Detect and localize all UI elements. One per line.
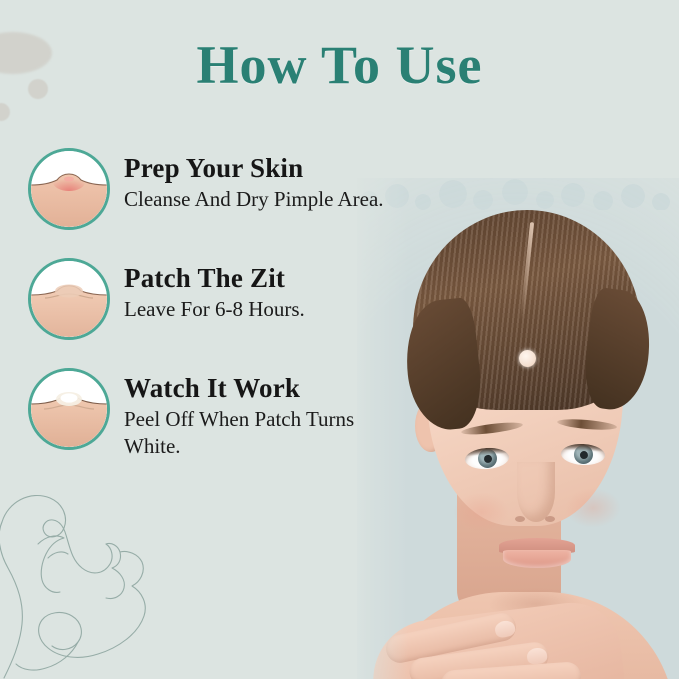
model-nostril-left [515, 516, 525, 522]
model-pupil-left [484, 455, 493, 464]
model-nostril-right [545, 516, 555, 522]
page-title: How To Use [0, 34, 679, 96]
step-title: Patch The Zit [124, 264, 305, 293]
step-item: Prep Your Skin Cleanse And Dry Pimple Ar… [28, 148, 448, 230]
line-art-face-profile [0, 488, 199, 679]
pimple-patch-applied-icon [28, 258, 110, 340]
step-item: Watch It Work Peel Off When Patch Turns … [28, 368, 448, 460]
pimple-bare-skin-icon [28, 148, 110, 230]
forehead-pimple-patch [519, 350, 536, 367]
steps-list: Prep Your Skin Cleanse And Dry Pimple Ar… [28, 148, 448, 488]
model-cheek-left [453, 492, 509, 532]
model-pupil-right [580, 451, 588, 459]
decorative-blob-small [0, 103, 10, 121]
infographic-canvas: How To Use [0, 0, 679, 679]
step-text: Watch It Work Peel Off When Patch Turns … [124, 368, 399, 460]
step-title: Prep Your Skin [124, 154, 384, 183]
step-description: Cleanse And Dry Pimple Area. [124, 186, 384, 213]
model-cheek-right [565, 488, 621, 528]
step-description: Peel Off When Patch Turns White. [124, 406, 399, 460]
step-title: Watch It Work [124, 374, 399, 403]
step-description: Leave For 6-8 Hours. [124, 296, 305, 323]
step-item: Patch The Zit Leave For 6-8 Hours. [28, 258, 448, 340]
patch-turned-white-icon [28, 368, 110, 450]
step-text: Prep Your Skin Cleanse And Dry Pimple Ar… [124, 148, 384, 213]
model-lower-lip [503, 550, 571, 568]
model-nose [517, 462, 555, 522]
model-lips [499, 538, 575, 568]
step-text: Patch The Zit Leave For 6-8 Hours. [124, 258, 305, 323]
